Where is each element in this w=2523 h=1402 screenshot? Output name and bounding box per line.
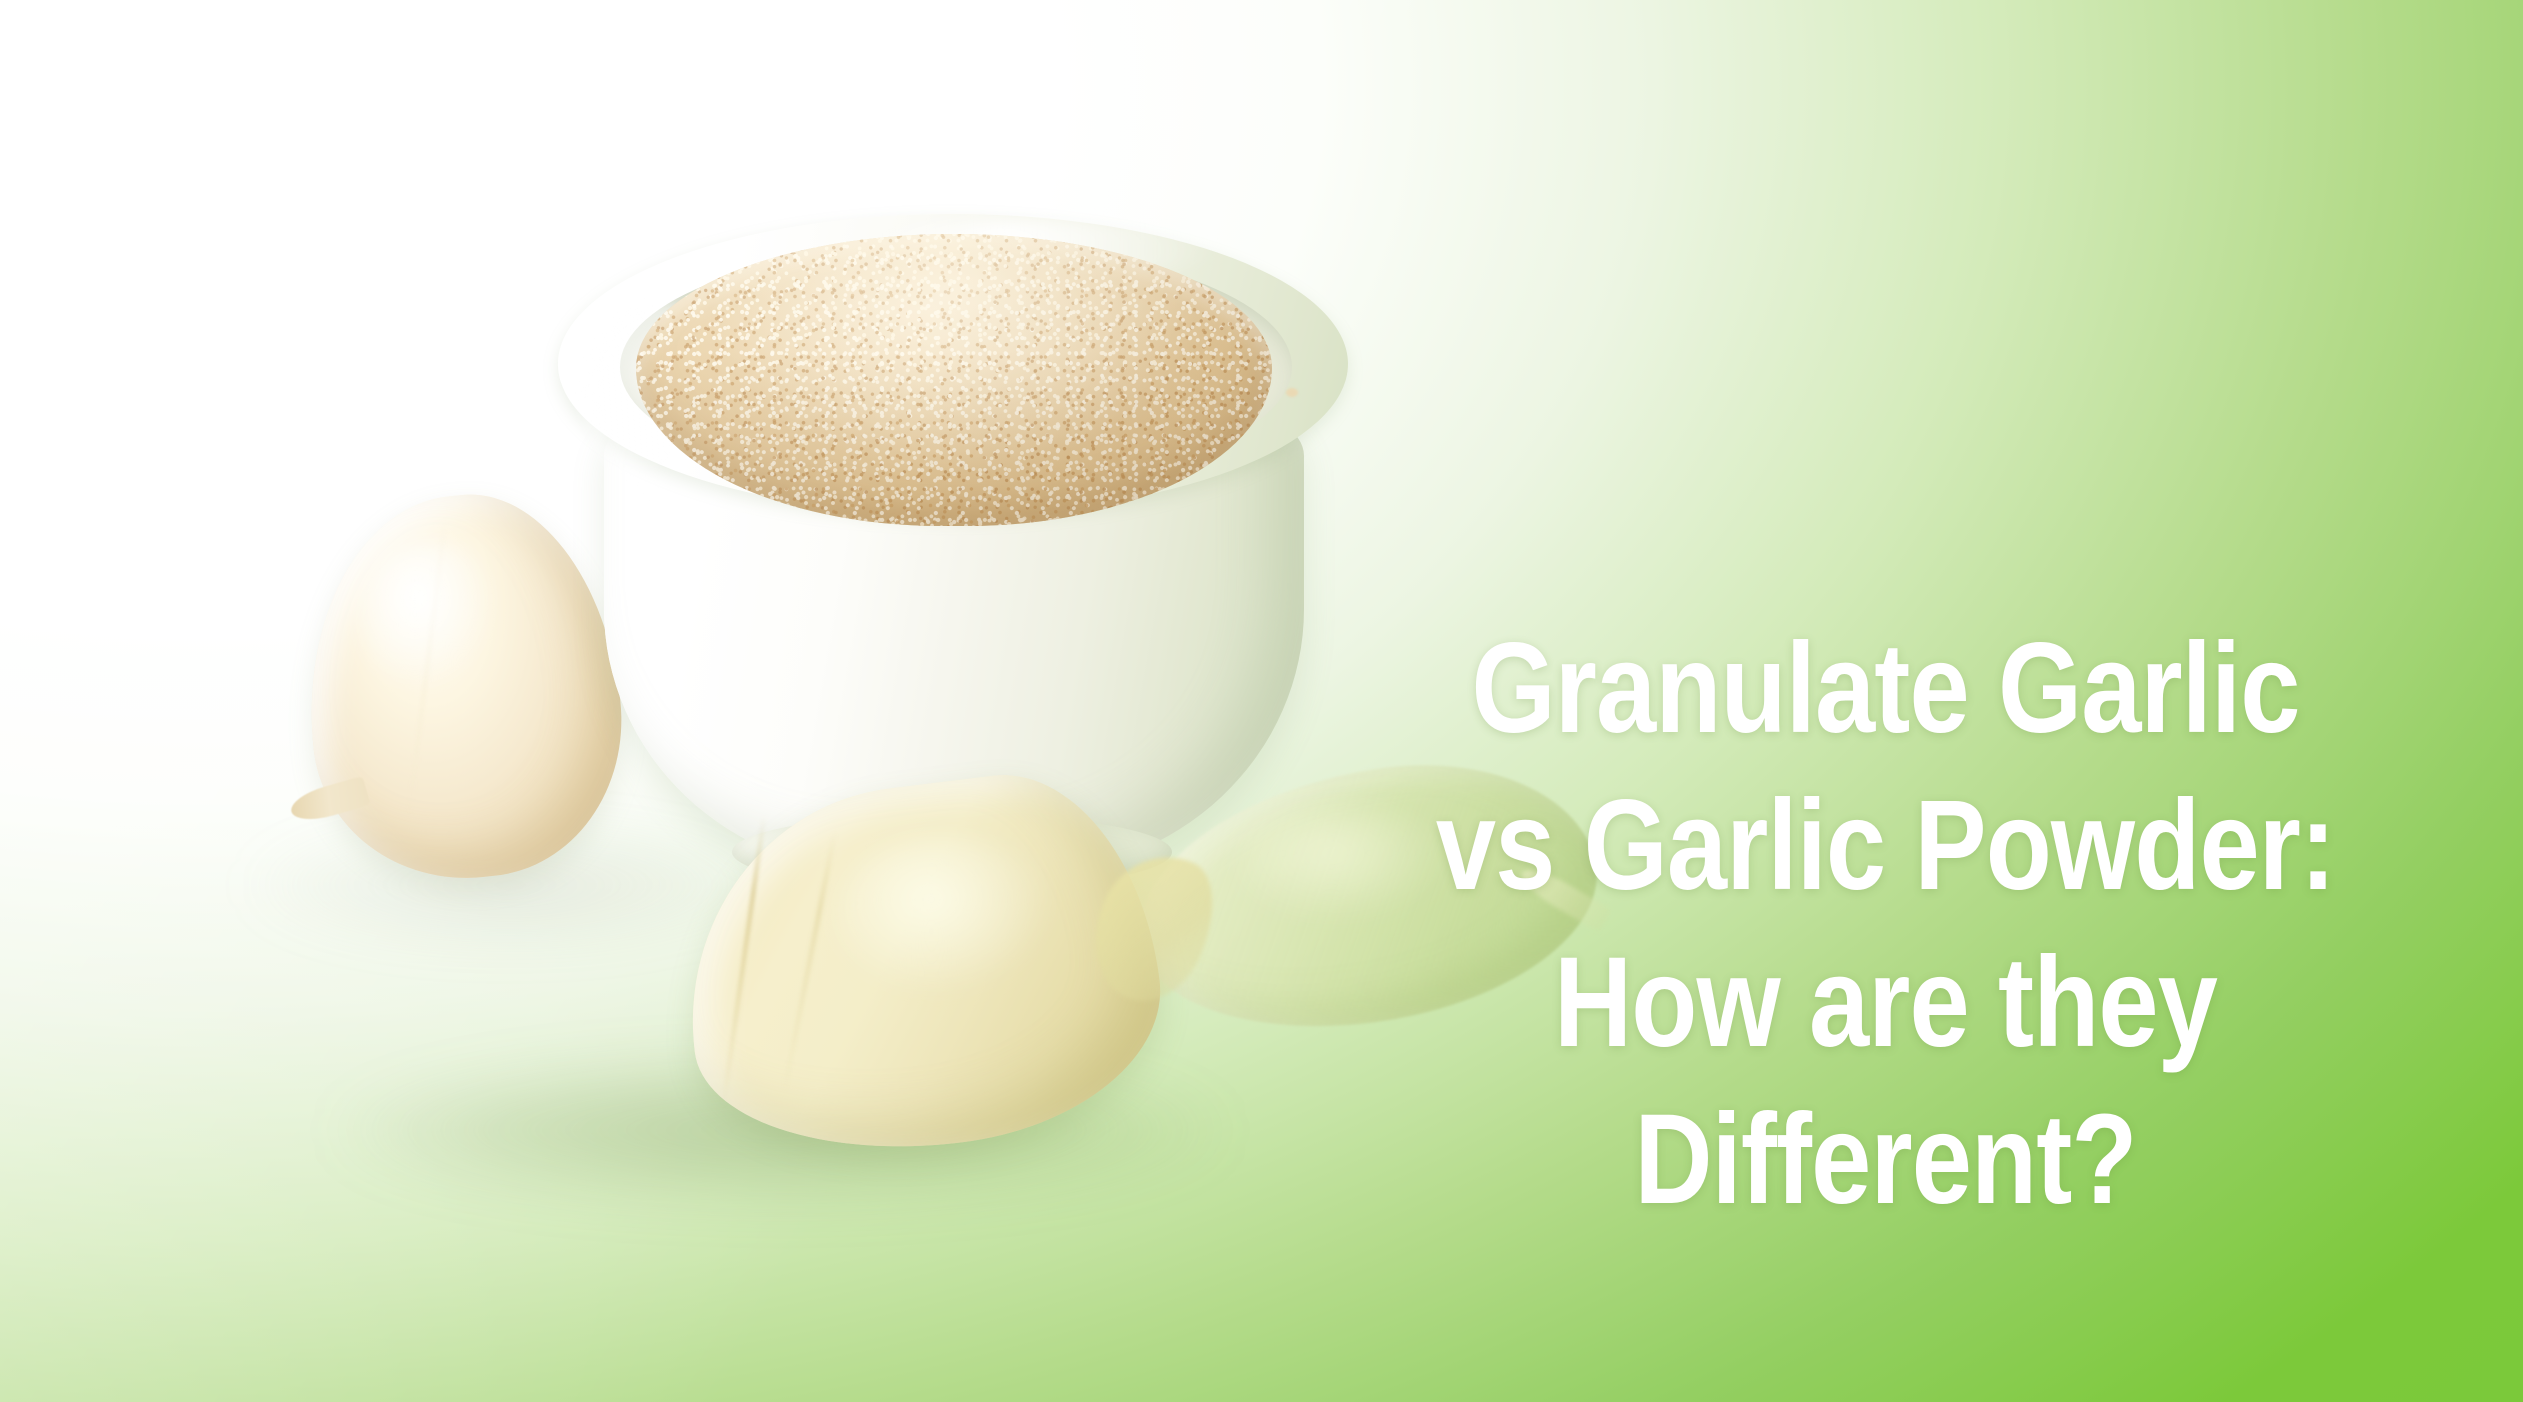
garlic-granule-shading [636, 234, 1272, 526]
garlic-article-banner: Granulate Garlic vs Garlic Powder: How a… [0, 0, 2523, 1402]
headline-line-3: How are they [1347, 942, 2424, 1065]
clove-left-highlight [358, 542, 501, 695]
headline-line-1: Granulate Garlic [1347, 628, 2424, 751]
granulated-garlic-mound [636, 234, 1272, 526]
headline-line-4: Different? [1347, 1099, 2424, 1222]
garlic-clove-front-image [686, 786, 1156, 1146]
banner-headline: Granulate Garlic vs Garlic Powder: How a… [1248, 628, 2523, 1222]
clove-front-highlight [836, 836, 1052, 994]
headline-line-2: vs Garlic Powder: [1347, 785, 2424, 908]
stray-granule [1286, 388, 1298, 397]
